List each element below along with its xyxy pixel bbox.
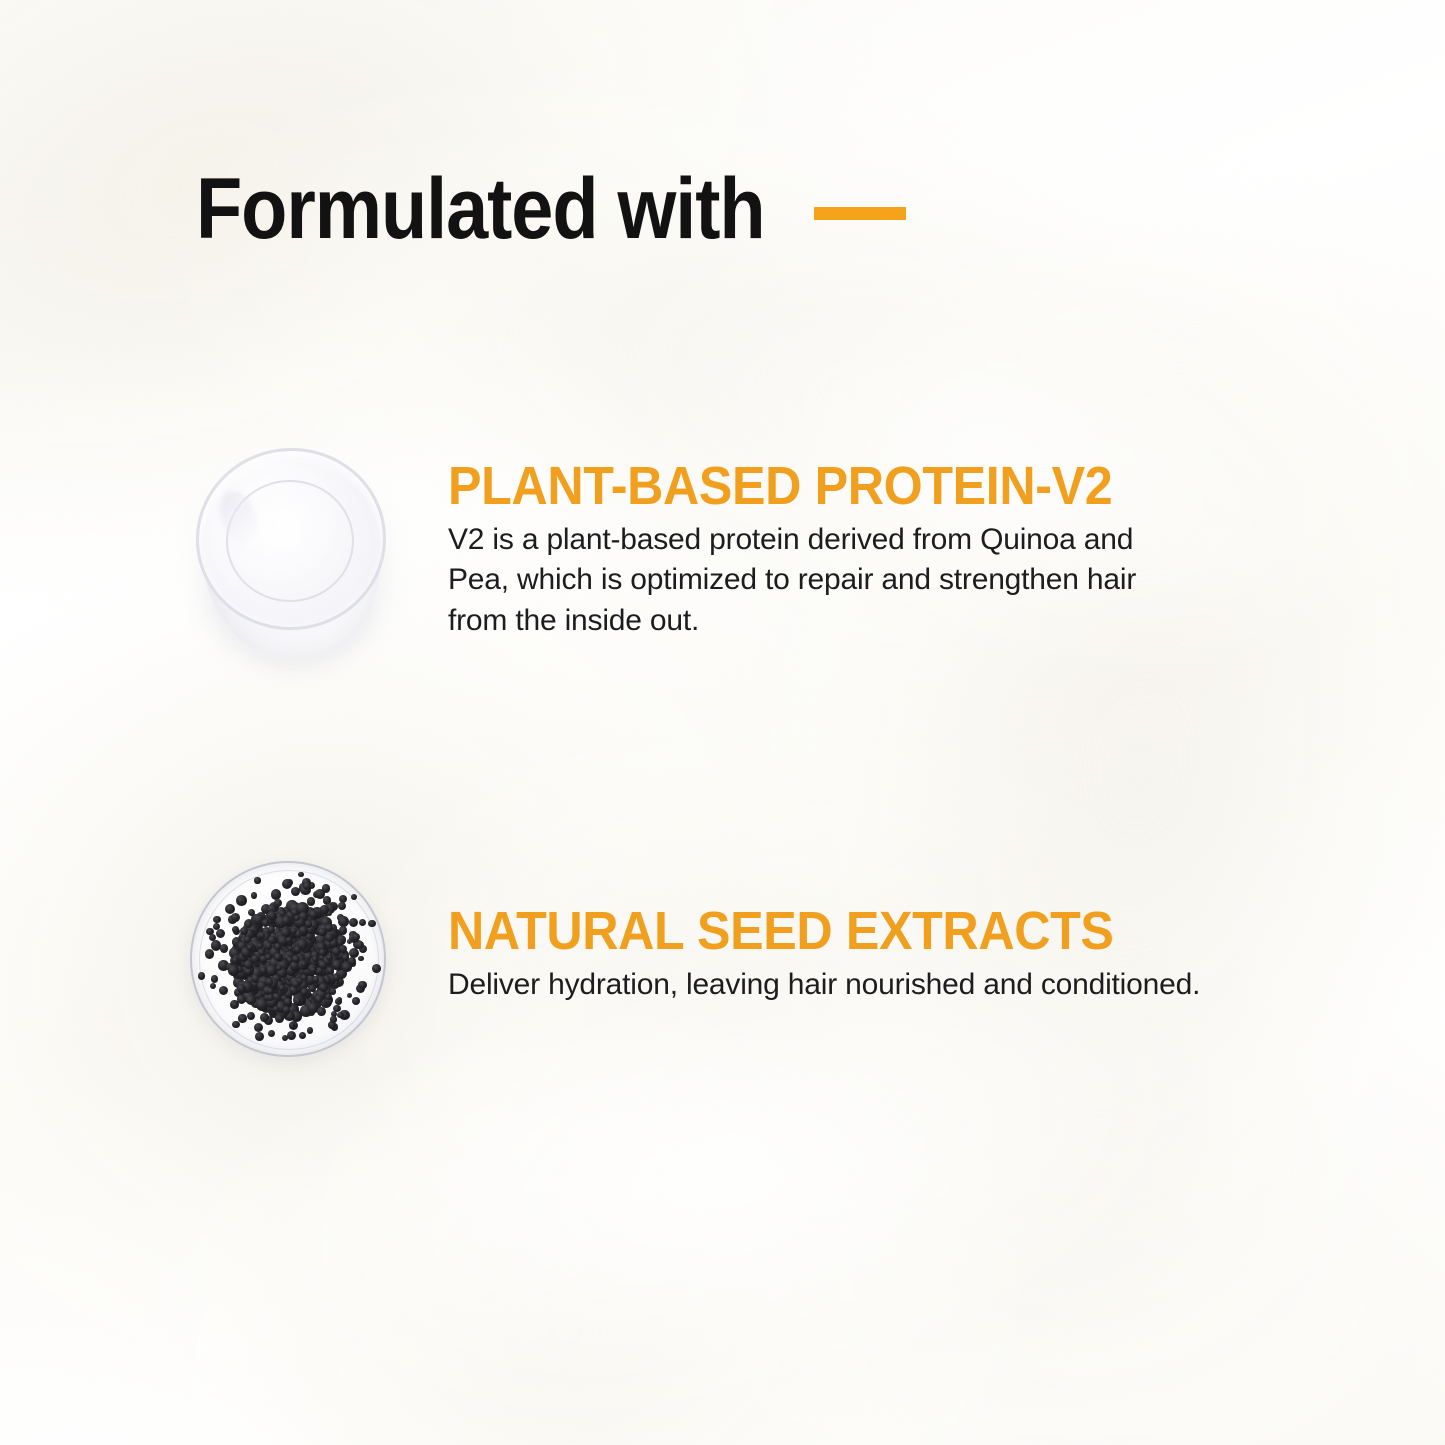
ingredient-block-plant-based-protein: PLANT-BASED PROTEIN-V2 V2 is a plant-bas… xyxy=(170,432,1162,672)
seed-cluster xyxy=(192,863,384,1055)
ingredient-description: V2 is a plant-based protein derived from… xyxy=(448,520,1162,641)
petri-dish-with-seeds-image xyxy=(170,845,410,1085)
header: Formulated with xyxy=(196,166,906,252)
ingredient-copy: PLANT-BASED PROTEIN-V2 V2 is a plant-bas… xyxy=(448,432,1162,641)
ingredient-description: Deliver hydration, leaving hair nourishe… xyxy=(448,965,1200,1005)
page-title: Formulated with xyxy=(196,166,765,252)
ingredient-title: NATURAL SEED EXTRACTS xyxy=(448,903,1148,959)
ingredient-copy: NATURAL SEED EXTRACTS Deliver hydration,… xyxy=(448,845,1200,1005)
ingredient-block-natural-seed-extracts: NATURAL SEED EXTRACTS Deliver hydration,… xyxy=(170,845,1200,1085)
glass-of-clear-liquid-image xyxy=(170,432,410,672)
ingredient-title: PLANT-BASED PROTEIN-V2 xyxy=(448,458,1112,514)
orange-dash-icon xyxy=(814,207,906,220)
ingredient-infographic: Formulated with PLANT-BASED PROTEIN-V2 V… xyxy=(0,0,1445,1445)
